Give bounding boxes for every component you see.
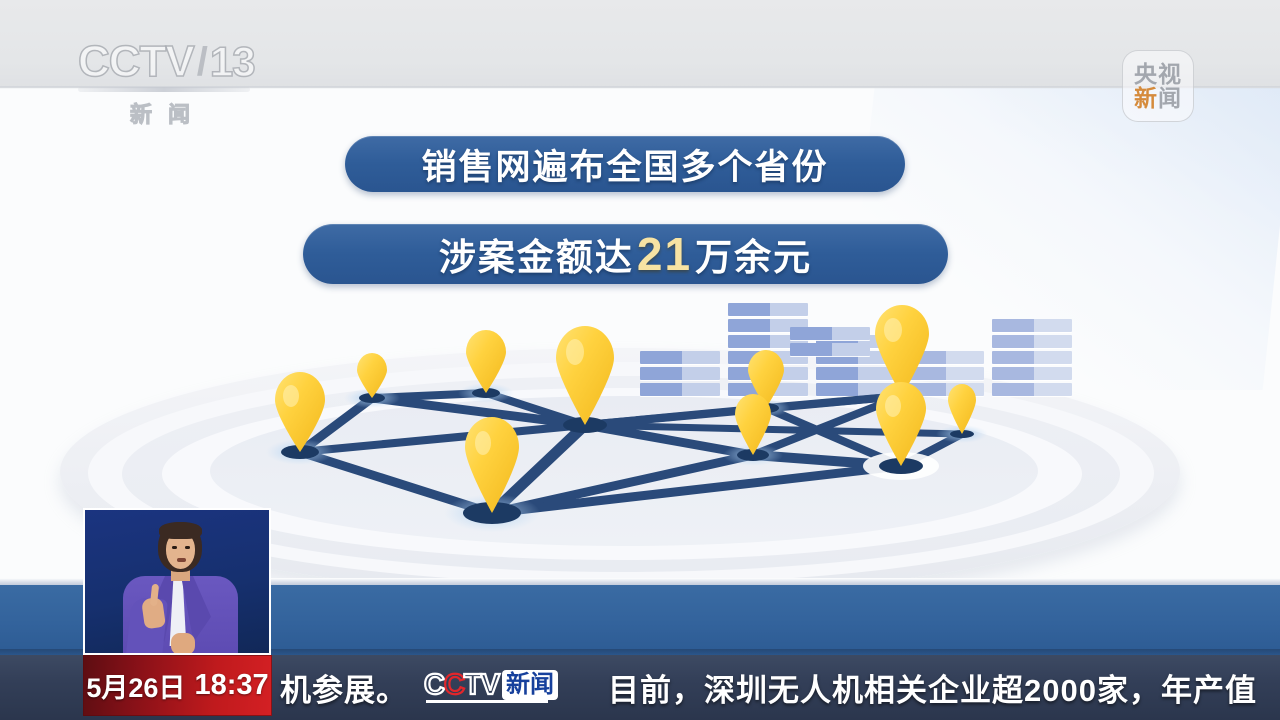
map-pin — [466, 330, 506, 393]
interpreter-mouth — [177, 558, 186, 562]
watermark-line-2-orange: 新 — [1134, 85, 1158, 111]
cctv13-logo-subtitle: 新闻 — [78, 97, 258, 129]
network-edges — [300, 393, 962, 513]
sign-language-interpreter-inset — [83, 508, 271, 655]
cctv13-logo-number: 13 — [210, 41, 255, 83]
ticker-logo-underline — [426, 700, 548, 703]
interpreter-eye-right — [185, 546, 190, 549]
cctv13-logo-text: CCTV — [78, 40, 194, 84]
interpreter-fringe — [159, 522, 202, 539]
map-pin — [556, 326, 614, 425]
cctv13-logo-slash: / — [197, 42, 207, 82]
headline-banner-2-number: 21 — [634, 227, 695, 281]
cctv13-logo-bar — [78, 87, 250, 92]
headline-banner-2: 涉案金额达21万余元 — [303, 224, 948, 284]
broadcast-screen: CCTV / 13 新闻 央视 新闻 销售网遍布全国多个省份 涉案金额达21万余… — [0, 0, 1280, 720]
watermark-line-1: 央视 — [1134, 63, 1182, 86]
ticker-logo-cctv: CCTV — [424, 671, 499, 700]
ticker-date: 5月26日 — [86, 666, 185, 705]
headline-banner-2-suffix: 万余元 — [695, 227, 812, 281]
cctv13-logo: CCTV / 13 新闻 — [78, 40, 258, 132]
cctv-news-app-watermark: 央视 新闻 — [1122, 50, 1194, 122]
ticker-time: 18:37 — [194, 669, 268, 702]
ticker-tail-text: 目前，深圳无人机相关企业超2000家，年产值 — [608, 655, 1257, 720]
cctv-news-ticker-logo: CCTV 新闻 — [424, 668, 558, 702]
headline-banner-1-text: 销售网遍布全国多个省份 — [421, 139, 828, 190]
headline-banner-2-prefix: 涉案金额达 — [439, 227, 634, 281]
headline-banner-1: 销售网遍布全国多个省份 — [345, 136, 905, 192]
interpreter-second-hand — [171, 633, 195, 655]
ticker-logo-news: 新闻 — [502, 670, 558, 700]
datetime-badge: 5月26日 18:37 — [83, 655, 272, 716]
ticker-head-text: 机参展。 — [280, 655, 408, 720]
interpreter-eye-left — [172, 546, 177, 549]
watermark-line-2-grey: 闻 — [1158, 85, 1182, 111]
